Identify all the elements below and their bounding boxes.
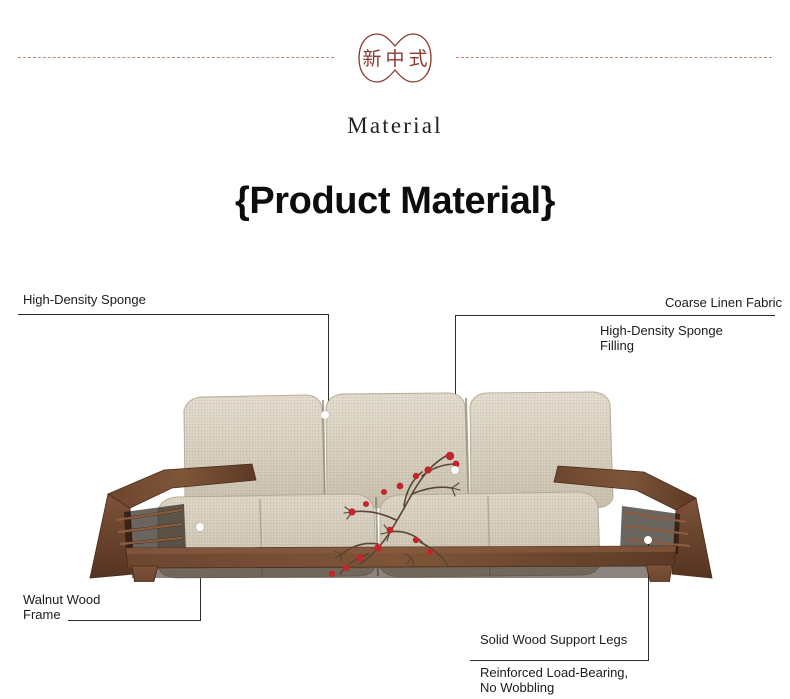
callout-solid-wood-support-legs: Solid Wood Support Legs: [480, 632, 627, 647]
marker-dot-seat-fabric: [451, 466, 459, 474]
brand-seal-logo: 新 中 式: [339, 26, 451, 90]
seal-char-2: 中: [385, 48, 404, 70]
marker-dot-frame-rail: [196, 523, 204, 531]
sofa-product-image: [60, 352, 740, 582]
callout-walnut-wood-frame: Walnut Wood Frame: [23, 592, 100, 622]
leader-line-top-left-horizontal: [18, 314, 328, 315]
leader-line-top-right-horizontal: [455, 315, 775, 316]
sofa-back-cushions: [184, 392, 613, 509]
callout-coarse-linen-fabric: Coarse Linen Fabric: [665, 295, 782, 310]
leader-line-bottom-right-horizontal: [470, 660, 649, 661]
marker-dot-back-cushion: [321, 411, 329, 419]
header-band: 新 中 式: [0, 0, 790, 96]
section-subtitle: Material: [0, 113, 790, 139]
callout-high-density-sponge-filling: High-Density Sponge Filling: [600, 323, 723, 353]
page-title: {Product Material}: [0, 180, 790, 223]
callout-reinforced-load-bearing: Reinforced Load-Bearing, No Wobbling: [480, 665, 628, 695]
callout-high-density-sponge: High-Density Sponge: [23, 292, 146, 307]
header-dashed-rule-right: [456, 57, 772, 58]
seal-char-1: 新: [362, 48, 381, 70]
header-dashed-rule-left: [18, 57, 334, 58]
seal-char-3: 式: [408, 48, 427, 70]
marker-dot-support-leg: [644, 536, 652, 544]
